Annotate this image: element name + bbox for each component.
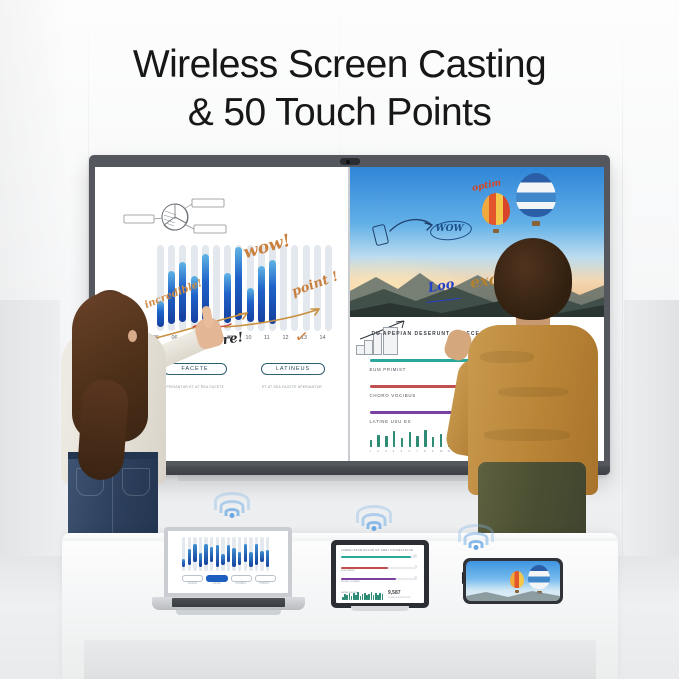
phone-frame [463,558,563,604]
chart-tick: 09 [227,335,233,341]
headline-line-2: & 50 Touch Points [0,89,679,137]
laptop-chart-bar [232,548,235,567]
tablet-frame: LOREM IPSUM DOLOR SIT AMET CONSECTETUR E… [331,540,429,608]
whiteboard-button-facete-label: FACETE [163,363,227,376]
tablet-mini-bar [360,596,362,600]
tablet-mini-chart [342,589,384,600]
chart-track [291,245,298,331]
tablet-title: LOREM IPSUM DOLOR SIT AMET CONSECTETUR [341,549,413,552]
building-icon [364,340,373,355]
chart-bar [269,260,276,324]
laptop-chart-bar [182,559,185,567]
tablet-value-3: 85 [415,577,417,579]
laptop-screen[interactable]: FACETELATINEVOCIBUSPRIMIST [168,531,288,593]
whiteboard-button-latineus[interactable]: LATINEUS ET AT SEA FACETE APERIANTUR [261,357,333,393]
tablet-mini-bar [371,592,373,600]
tablet-stat-caption: LOREM IPSUM DOLOR [388,597,411,599]
wifi-cast-icon-phone [457,524,495,554]
wifi-cast-icon-laptop [213,492,251,522]
chart-track [325,245,332,331]
laptop-pill-label: LATINE [206,582,227,585]
tablet-mini-bar [349,593,351,600]
chart-bar [168,271,175,324]
mini-tick: 4 [393,450,394,453]
laptop-lid: FACETELATINEVOCIBUSPRIMIST [164,527,292,597]
wifi-cast-icon-tablet [355,505,393,535]
laptop-pill-labels: FACETELATINEVOCIBUSPRIMIST [182,582,276,585]
woman-ponytail [77,379,130,482]
mini-bar [370,440,373,447]
tablet-bar-1 [341,556,417,558]
chart-track [280,245,287,331]
chart-bar [247,288,254,322]
mini-bar [432,437,435,447]
laptop-chart-bar [238,552,241,565]
chart-bar [157,301,164,327]
mini-tick: 8 [424,450,425,453]
laptop-chart-bar [204,544,207,564]
mini-bar [409,432,412,447]
woman-pocket-right [122,468,150,496]
laptop-chart-bar [255,544,258,565]
phone-mountain [466,589,560,601]
laptop-chart-bar [266,550,269,567]
tablet-bar-2 [341,567,417,569]
whiteboard-buttons[interactable]: FACETE APERIANTUR ET AT REA FACETE LATIN… [163,357,333,393]
mini-tick: 1 [370,450,371,453]
whiteboard-button-latineus-label: LATINEUS [261,363,325,376]
laptop-chart-bar [244,544,247,562]
screenshot-root: Wireless Screen Casting & 50 Touch Point… [0,0,679,679]
headline-line-1: Wireless Screen Casting [133,43,546,86]
mini-tick: 2 [377,450,378,453]
whiteboard-bar-chart[interactable] [157,245,337,331]
camera-icon [340,158,360,165]
laptop-chart-bar [210,547,213,562]
page-title: Wireless Screen Casting & 50 Touch Point… [0,41,679,137]
laptop-chart-bar [199,553,202,567]
tablet-value-1: 100 [413,555,417,557]
annotation-optim: optim [471,178,502,194]
tablet-mini-bar [346,595,348,600]
room-cabinet-left [0,300,60,560]
chart-track [314,245,321,331]
laptop-pill-label: PRIMIST [254,582,275,585]
chart-bar [258,266,265,323]
mini-tick: 3 [385,450,386,453]
mini-tick: 10 [440,450,443,453]
mini-bar [424,430,427,447]
tablet-device[interactable]: LOREM IPSUM DOLOR SIT AMET CONSECTETUR E… [331,540,429,612]
mini-tick: 6 [409,450,410,453]
phone-icon [371,224,388,247]
mini-bar [440,434,443,447]
laptop-pill-label: VOCIBUS [230,582,251,585]
chart-bar [224,273,231,323]
chart-track [303,245,310,331]
laptop-chart-bar [260,551,263,562]
chart-tick: 11 [264,335,270,341]
tablet-screen[interactable]: LOREM IPSUM DOLOR SIT AMET CONSECTETUR E… [336,545,424,603]
laptop-chart-bar [227,545,230,562]
mini-bar [377,435,380,447]
whiteboard-button-facete-sub: APERIANTUR ET AT REA FACETE [163,385,225,390]
mini-bar [393,431,396,447]
chart-bar [191,276,198,323]
laptop-device[interactable]: FACETELATINEVOCIBUSPRIMIST [152,527,305,622]
whiteboard-button-latineus-sub: ET AT SEA FACETE APERIANTUR [261,385,323,390]
tablet-bar-3 [341,578,417,580]
chart-tick: 10 [246,335,252,341]
phone-device[interactable] [463,558,563,606]
pie-diagram [120,195,230,243]
chart-bar [179,262,186,322]
room-cabinet-right [624,300,679,560]
mini-bar [416,436,419,447]
mini-bar [385,436,388,447]
tablet-stand [351,606,409,611]
balloon-blue [516,173,556,225]
laptop-chart-bar [188,549,191,565]
annotation-wow-circle [429,219,473,242]
phone-screen[interactable] [466,561,560,601]
mini-tick: 9 [432,450,433,453]
chart-bar [235,247,242,319]
table-skirt [84,640,596,679]
tablet-mini-bar [382,594,384,600]
tablet-mini-bar [357,592,359,600]
laptop-pill-label: FACETE [182,582,203,585]
chart-tick: 12 [283,335,289,341]
laptop-chart-bar [221,554,224,564]
mini-bar [401,438,404,447]
laptop-chart-bar [193,544,196,562]
balloon-orange [482,193,510,233]
laptop-foot [176,610,281,615]
tablet-stat-value: 9,587 [388,590,401,596]
woman-ear [128,330,137,342]
laptop-keyboard[interactable] [172,598,285,607]
mini-tick: 7 [416,450,417,453]
laptop-bar-chart [182,537,274,571]
man-hair [494,238,572,320]
chart-tick: 14 [320,335,326,341]
tablet-value-2: 78 [415,566,417,568]
annotation-checkmark: ✓ [294,326,310,348]
laptop-chart-bar [249,552,252,567]
tablet-mini-bar [368,594,370,600]
tablet-mini-bar [379,593,381,600]
mini-tick: 11 [448,450,451,453]
laptop-chart-bar [216,545,219,567]
mini-tick: 5 [401,450,402,453]
